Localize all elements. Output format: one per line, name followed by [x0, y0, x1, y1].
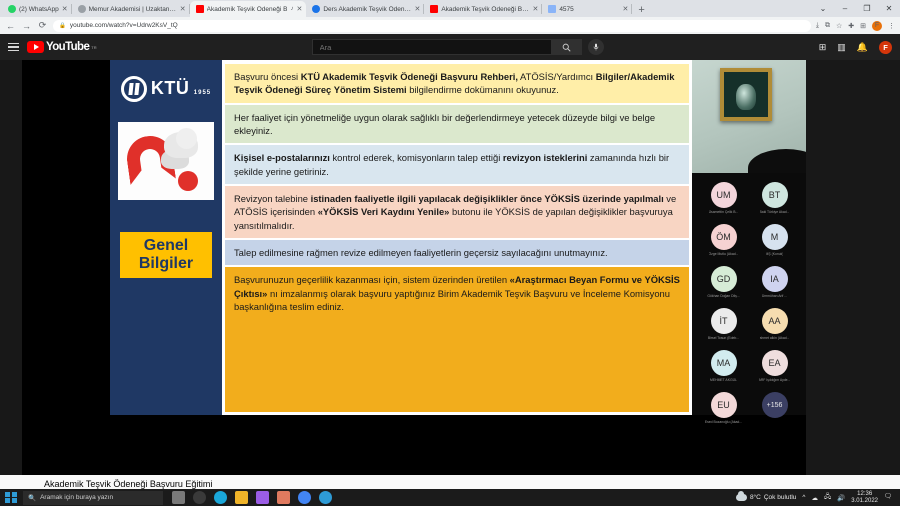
weather-desc: Çok bulutlu: [764, 494, 797, 501]
slide-text-run: ATÖSİS/Yardımcı: [518, 71, 596, 82]
slide-text-run: revizyon isteklerini: [503, 152, 587, 163]
participant-avatar: M: [762, 224, 788, 250]
back-icon[interactable]: ←: [5, 21, 16, 31]
ktu-logo-icon: KTÜ 1955: [121, 76, 211, 102]
participant-avatar: +156: [762, 392, 788, 418]
store-icon[interactable]: [256, 491, 269, 504]
tab-close-icon[interactable]: ✕: [296, 5, 302, 13]
participant-avatar: MA: [711, 350, 737, 376]
lock-icon: 🔒: [59, 23, 66, 29]
windows-taskbar: 🔍 Aramak için buraya yazın 8°C Çok bulut…: [0, 489, 900, 506]
slide-tile-1: Başvuru öncesi KTÜ Akademik Teşvik Ödene…: [225, 64, 689, 103]
slide-text-run: «YÖKSİS Veri Kaydını Yenile»: [318, 206, 450, 217]
clock-date: 3.01.2022: [851, 498, 878, 505]
new-tab-button[interactable]: +: [632, 4, 650, 17]
chrome-menu-icon[interactable]: ⋮: [888, 22, 895, 30]
question-mark-illustration: [118, 122, 214, 200]
tab-strip: (2) WhatsApp ✕ Memur Akademisi | Uzaktan…: [0, 0, 900, 17]
clock-time: 12:36: [851, 491, 878, 498]
youtube-play-icon: [27, 41, 44, 53]
youtube-page: YouTube TR: [0, 34, 900, 489]
section-label: Genel Bilgiler: [120, 232, 212, 278]
participant-avatar: İT: [711, 308, 737, 334]
participant-item[interactable]: MAMEHMET AKGÜL: [702, 350, 745, 382]
maximize-button[interactable]: ❐: [856, 0, 878, 17]
blue-circle-icon: [312, 5, 320, 13]
ktu-emblem-icon: [121, 76, 147, 102]
photos-icon[interactable]: [277, 491, 290, 504]
page-title: Akademik Teşvik Ödeneği Başvuru Eğitimi: [44, 479, 212, 489]
account-avatar[interactable]: F: [879, 41, 892, 54]
tab-title: 4575: [559, 6, 619, 13]
extensions-icon[interactable]: ✚: [848, 22, 854, 30]
tab-close-icon[interactable]: ✕: [532, 5, 538, 13]
presenter-webcam: [692, 60, 806, 173]
search-box[interactable]: [312, 39, 582, 55]
taskbar-search-placeholder: Aramak için buraya yazın: [40, 494, 113, 501]
profile-sync-icon[interactable]: ⊞: [860, 22, 866, 30]
tab-search-icon[interactable]: ⌄: [812, 0, 834, 17]
participant-item[interactable]: GDGökhan Doğan Dilş...: [702, 266, 745, 298]
file-explorer-icon[interactable]: [235, 491, 248, 504]
university-abbrev: KTÜ: [151, 78, 190, 98]
tab-audio-icon[interactable]: ♪: [290, 6, 293, 12]
slide-tile-6: Başvurunuzun geçerlilik kazanması için, …: [225, 267, 689, 412]
participant-name: MŞ (Konuk): [766, 252, 784, 256]
forward-icon[interactable]: →: [21, 21, 32, 31]
participant-name: Özge Mutlu (Akad...: [709, 252, 739, 256]
edge-icon[interactable]: [214, 491, 227, 504]
participant-item[interactable]: İTBirsel Tosun (Edeb...: [702, 308, 745, 340]
video-player[interactable]: KTÜ 1955 Genel Bilgiler Başvuru öncesi K…: [22, 60, 806, 475]
profile-avatar[interactable]: F: [872, 21, 882, 31]
slide-text-run: kontrol ederek, komisyonların talep etti…: [330, 152, 503, 163]
youtube-wordmark: YouTube: [46, 41, 89, 53]
slide-text-run: Talep edilmesine rağmen revize edilmeyen…: [234, 247, 608, 258]
participant-name: Üsamettin Çelik B...: [709, 210, 739, 214]
slide-text-run: Revizyon talebine: [234, 193, 311, 204]
youtube-icon: [430, 5, 438, 13]
windows-start-icon[interactable]: [4, 491, 18, 505]
tab-title: (2) WhatsApp: [19, 6, 59, 13]
window-controls: ⌄ – ❐ ✕: [812, 0, 900, 17]
bookmark-star-icon[interactable]: ☆: [836, 22, 842, 30]
participant-name: Ümmühan Arif ...: [762, 294, 787, 298]
chevron-up-icon[interactable]: ^: [802, 494, 805, 501]
volume-icon[interactable]: 🔊: [837, 494, 845, 502]
weather-temp: 8°C: [750, 494, 761, 501]
slide-tile-5: Talep edilmesine rağmen revize edilmeyen…: [225, 240, 689, 265]
cloud-icon: [736, 494, 747, 501]
chrome-icon[interactable]: [298, 491, 311, 504]
cortana-icon[interactable]: [193, 491, 206, 504]
tab-title: Memur Akademisi | Uzaktan Eği: [89, 6, 177, 13]
founding-year: 1955: [194, 90, 211, 96]
sheets-icon: [548, 5, 556, 13]
taskbar-search-input[interactable]: 🔍 Aramak için buraya yazın: [23, 491, 163, 505]
youtube-icon: [196, 5, 204, 13]
participant-name: ahmet alkin (Akad...: [760, 336, 790, 340]
slide-text-run: Başvuru öncesi: [234, 71, 301, 82]
figure-head-icon: [176, 128, 197, 149]
participants-panel: UMÜsamettin Çelik B...BTBaki Türkiye Aka…: [692, 60, 806, 415]
participant-name: Esed Bozanoğlu (Akad...: [705, 420, 742, 424]
slide-sidebar: KTÜ 1955 Genel Bilgiler: [110, 60, 222, 415]
browser-tab-1[interactable]: (2) WhatsApp ✕: [2, 1, 72, 17]
slide-tile-3: Kişisel e-postalarınızı kontrol ederek, …: [225, 145, 689, 184]
participant-avatar: ÖM: [711, 224, 737, 250]
presenter-silhouette: [748, 149, 806, 173]
omnibox-toolbar: ← → ⟳ 🔒 youtube.com/watch?v=Udrw2KsV_tQ …: [0, 17, 900, 34]
participant-item[interactable]: EUEsed Bozanoğlu (Akad...: [702, 392, 745, 424]
share-icon[interactable]: ⤓: [816, 22, 819, 30]
tab-title: Akademik Teşvik Ödeneği Başv: [441, 6, 529, 13]
tab-close-icon[interactable]: ✕: [180, 5, 186, 13]
participant-name: ARF Işıldığım Ayde...: [759, 378, 791, 382]
ktu-wordmark: KTÜ 1955: [151, 79, 211, 99]
participant-avatar: BT: [762, 182, 788, 208]
youtube-logo[interactable]: YouTube TR: [27, 41, 97, 53]
search-icon: 🔍: [28, 494, 36, 502]
action-center-icon[interactable]: 🗨: [884, 492, 896, 504]
slide-tile-2: Her faaliyet için yönetmeliğe uygun olar…: [225, 105, 689, 144]
network-icon[interactable]: 🖧: [824, 492, 831, 503]
tab-title: Ders Akademik Teşvik Ödeneği: [323, 6, 411, 13]
participant-item[interactable]: BTBaki Türkiye Akad...: [753, 182, 796, 214]
browser-tab-2[interactable]: Memur Akademisi | Uzaktan Eği ✕: [72, 1, 190, 17]
participant-name: Birsel Tosun (Edeb...: [708, 336, 739, 340]
participant-avatar: AA: [762, 308, 788, 334]
slide-tile-4: Revizyon talebine istinaden faaliyetle i…: [225, 186, 689, 238]
slide-text-run: bilgilendirme dokümanını okuyunuz.: [407, 84, 559, 95]
participant-avatar: UM: [711, 182, 737, 208]
youtube-country-code: TR: [91, 45, 96, 50]
youtube-apps-icon[interactable]: ▥: [837, 42, 846, 53]
participant-grid: UMÜsamettin Çelik B...BTBaki Türkiye Aka…: [692, 173, 806, 424]
onedrive-icon[interactable]: ☁: [811, 494, 818, 502]
taskbar-pinned-apps: [172, 491, 332, 504]
participant-avatar: GD: [711, 266, 737, 292]
url-text: youtube.com/watch?v=Udrw2KsV_tQ: [70, 22, 178, 29]
address-bar[interactable]: 🔒 youtube.com/watch?v=Udrw2KsV_tQ: [53, 20, 811, 32]
search-input[interactable]: [313, 43, 551, 52]
globe-icon: [78, 5, 86, 13]
tab-close-icon[interactable]: ✕: [62, 5, 68, 13]
system-tray: 8°C Çok bulutlu ^ ☁ 🖧 🔊 12:36 3.01.2022 …: [736, 491, 896, 505]
video-meta-bar: Akademik Teşvik Ödeneği Başvuru Eğitimi …: [0, 475, 900, 489]
tab-close-icon[interactable]: ✕: [622, 5, 628, 13]
close-window-button[interactable]: ✕: [878, 0, 900, 17]
menu-hamburger-icon[interactable]: [8, 43, 19, 51]
participant-name: Gökhan Doğan Dilş...: [707, 294, 739, 298]
youtube-header: YouTube TR: [0, 34, 900, 60]
participant-name: Baki Türkiye Akad...: [760, 210, 790, 214]
wall-picture-frame: [720, 68, 772, 121]
participant-avatar: IA: [762, 266, 788, 292]
voice-search-icon[interactable]: [588, 39, 604, 55]
participant-item[interactable]: AAahmet alkin (Akad...: [753, 308, 796, 340]
browser-tab-4[interactable]: Ders Akademik Teşvik Ödeneği ✕: [306, 1, 424, 17]
participant-item[interactable]: IAÜmmühan Arif ...: [753, 266, 796, 298]
slide-text-run: Başvurunuzun geçerlilik kazanması için, …: [234, 274, 510, 285]
reload-icon[interactable]: ⟳: [37, 20, 48, 31]
notifications-bell-icon[interactable]: 🔔: [857, 42, 868, 53]
slide-text-run: nı imzalanmış olarak başvuru yaptığınız …: [234, 288, 670, 312]
participant-item[interactable]: UMÜsamettin Çelik B...: [702, 182, 745, 214]
browser-tab-5[interactable]: Akademik Teşvik Ödeneği Başv ✕: [424, 1, 542, 17]
search-button[interactable]: [551, 39, 581, 55]
search-area: [105, 39, 811, 55]
browser-tab-3-active[interactable]: Akademik Teşvik Ödeneği B ♪ ✕: [190, 1, 307, 17]
presentation-slide: KTÜ 1955 Genel Bilgiler Başvuru öncesi K…: [110, 60, 692, 415]
media-icon[interactable]: [319, 491, 332, 504]
slide-text-run: Her faaliyet için yönetmeliğe uygun olar…: [234, 112, 655, 136]
tab-close-icon[interactable]: ✕: [414, 5, 420, 13]
browser-window: (2) WhatsApp ✕ Memur Akademisi | Uzaktan…: [0, 0, 900, 489]
question-mark-dot-icon: [178, 171, 198, 191]
participant-item[interactable]: +156: [753, 392, 796, 424]
weather-widget[interactable]: 8°C Çok bulutlu: [736, 494, 796, 501]
participant-item[interactable]: ÖMÖzge Mutlu (Akad...: [702, 224, 745, 256]
tab-title: Akademik Teşvik Ödeneği B: [207, 6, 288, 13]
create-video-icon[interactable]: ⊞: [819, 42, 827, 53]
task-view-icon[interactable]: [172, 491, 185, 504]
participant-avatar: EU: [711, 392, 737, 418]
taskbar-clock[interactable]: 12:36 3.01.2022: [851, 491, 878, 505]
slide-text-run: KTÜ Akademik Teşvik Ödeneği Başvuru Rehb…: [301, 71, 518, 82]
participant-item[interactable]: MMŞ (Konuk): [753, 224, 796, 256]
slide-text-run: Kişisel e-postalarınızı: [234, 152, 330, 163]
participant-name: MEHMET AKGÜL: [710, 378, 737, 382]
slide-text-run: istinaden faaliyetle ilgili yapılacak de…: [311, 193, 664, 204]
whatsapp-icon: [8, 5, 16, 13]
browser-tab-6[interactable]: 4575 ✕: [542, 1, 632, 17]
participant-avatar: EA: [762, 350, 788, 376]
minimize-button[interactable]: –: [834, 0, 856, 17]
cast-icon[interactable]: ⧉: [825, 22, 830, 30]
header-actions: ⊞ ▥ 🔔 F: [819, 41, 892, 54]
omnibox-actions: ⤓ ⧉ ☆ ✚ ⊞ F ⋮: [816, 21, 895, 31]
slide-content: Başvuru öncesi KTÜ Akademik Teşvik Ödene…: [222, 60, 692, 415]
participant-item[interactable]: EAARF Işıldığım Ayde...: [753, 350, 796, 382]
